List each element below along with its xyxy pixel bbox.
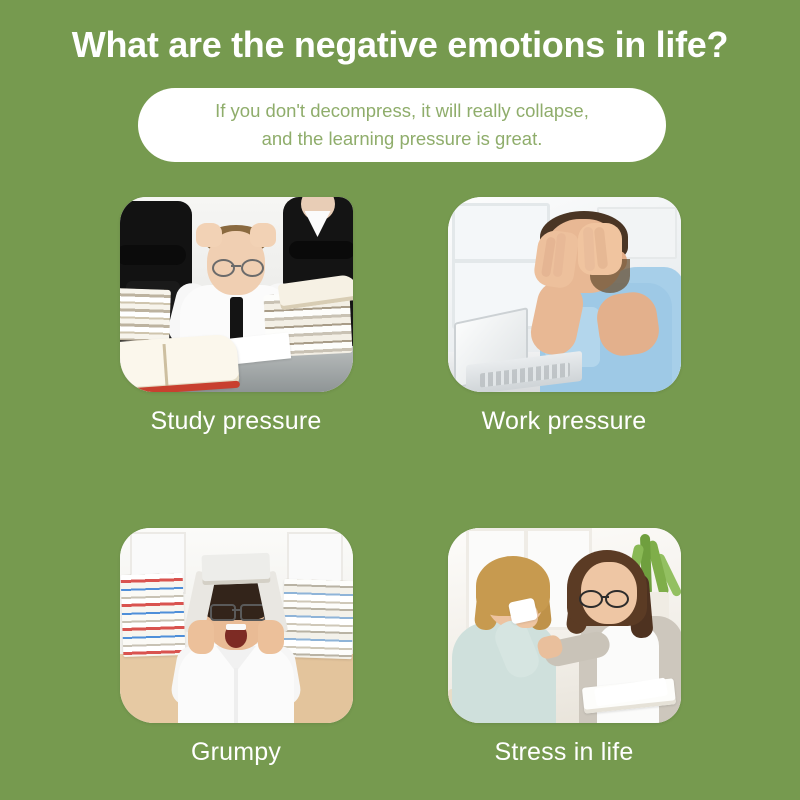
card-image-frame-study[interactable] <box>120 197 353 392</box>
card-caption-stress: Stress in life <box>448 738 681 767</box>
card-caption-work: Work pressure <box>448 407 681 436</box>
subtitle-line-1: If you don't decompress, it will really … <box>215 97 589 125</box>
photo-study-pressure <box>120 197 353 392</box>
subtitle-text-block: If you don't decompress, it will really … <box>215 97 589 153</box>
subtitle-line-2: and the learning pressure is great. <box>215 125 589 153</box>
card-row-1: Study pressure <box>0 197 800 436</box>
card-caption-grumpy: Grumpy <box>120 738 353 767</box>
card-image-frame-stress[interactable] <box>448 528 681 723</box>
card-caption-study: Study pressure <box>120 407 353 436</box>
photo-grumpy <box>120 528 353 723</box>
photo-stress-in-life <box>448 528 681 723</box>
poster-canvas: What are the negative emotions in life? … <box>0 0 800 800</box>
emotion-card-grid: Study pressure <box>0 197 800 767</box>
card-study-pressure[interactable]: Study pressure <box>120 197 353 436</box>
card-row-2: Grumpy <box>0 528 800 767</box>
card-image-frame-grumpy[interactable] <box>120 528 353 723</box>
card-grumpy[interactable]: Grumpy <box>120 528 353 767</box>
photo-work-pressure <box>448 197 681 392</box>
card-work-pressure[interactable]: Work pressure <box>448 197 681 436</box>
card-image-frame-work[interactable] <box>448 197 681 392</box>
page-title: What are the negative emotions in life? <box>0 24 800 66</box>
subtitle-pill: If you don't decompress, it will really … <box>138 88 666 162</box>
card-stress-in-life[interactable]: Stress in life <box>448 528 681 767</box>
